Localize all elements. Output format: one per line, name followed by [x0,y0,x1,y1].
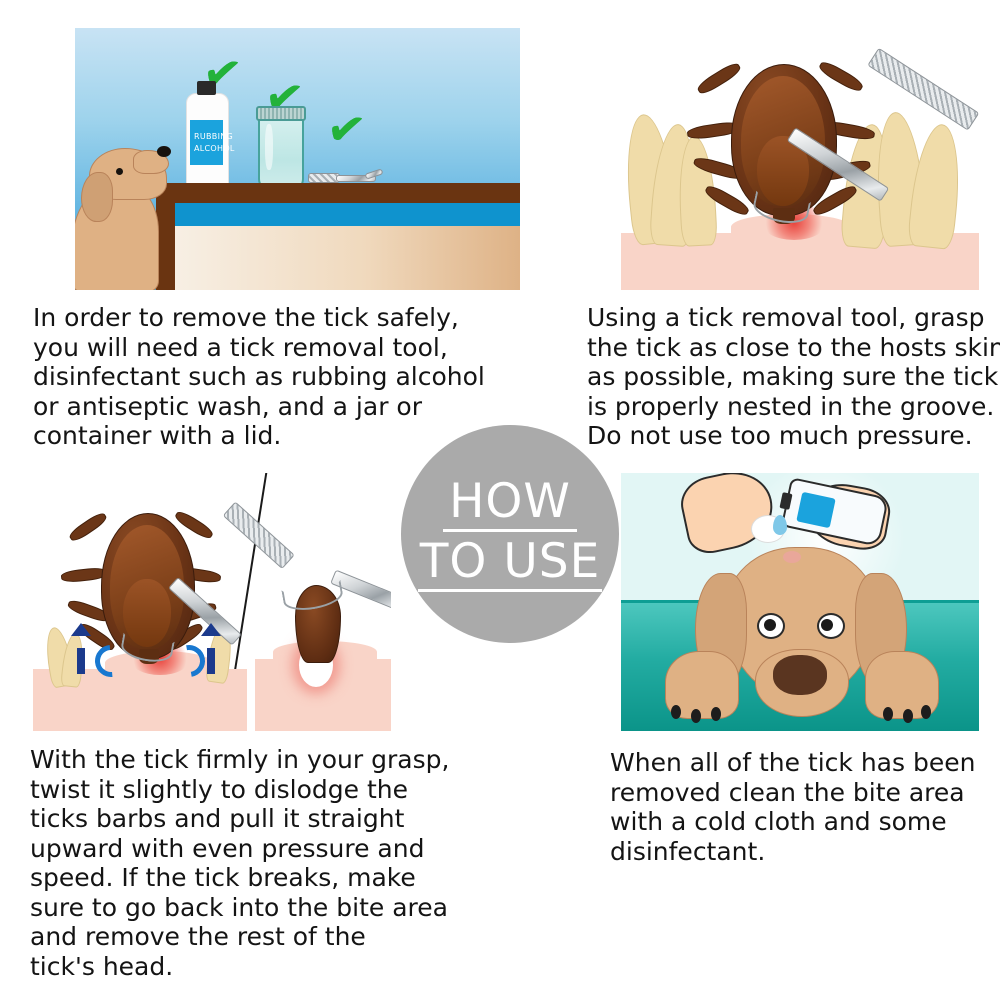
table-top [156,183,520,203]
dog-claw [671,705,681,719]
dog-claw [921,705,931,719]
jar-lid [256,106,306,121]
jar-highlight [265,124,273,170]
dog-eye [116,168,123,175]
tick-removal-tool-handle [867,48,979,131]
illustration-step-4 [621,473,979,731]
fur-tuft [907,122,966,250]
floor-surface [175,226,520,290]
liquid-drop-icon [773,515,787,535]
tick-leg [695,60,743,96]
dog-claw [883,707,893,721]
dog-claw [691,709,701,723]
dog-pupil-left [764,619,776,631]
dog-claw [711,707,721,721]
dog-nose [157,146,171,157]
pull-up-arrow-icon [201,623,221,675]
how-to-use-badge: HOW TO USE [401,425,619,643]
tick-leg [67,510,109,543]
illustration-step-2 [621,28,979,290]
caption-step-1: In order to remove the tick safely, you … [33,303,533,451]
illustration-step-3 [33,473,391,731]
badge-line-2: TO USE [418,535,603,592]
wall-blue-band [175,203,520,226]
dog-claw [903,709,913,723]
illustration-step-1: ✔ ✔ ✔ RUBBING ALCOHOL [75,28,520,290]
bottle-label-line-2: ALCOHOL [194,143,235,155]
dog-silhouette [75,138,179,290]
caption-step-2: Using a tick removal tool, grasp the tic… [587,303,1000,451]
dog-pupil-right [821,619,833,631]
dog-ear [81,172,113,222]
caption-step-4: When all of the tick has been removed cl… [610,748,1000,866]
checkmark-icon: ✔ [324,104,369,155]
tick-leg [817,59,865,94]
bottle-cap [197,81,216,95]
bottle-label: RUBBING ALCOHOL [190,120,223,165]
bite-spot-on-head [783,551,801,563]
badge-line-1: HOW [443,477,577,532]
bottle-label-line-1: RUBBING [194,131,233,143]
caption-step-3: With the tick firmly in your grasp, twis… [30,745,500,981]
dog-nose [773,655,827,695]
pull-up-arrow-icon [71,623,91,675]
